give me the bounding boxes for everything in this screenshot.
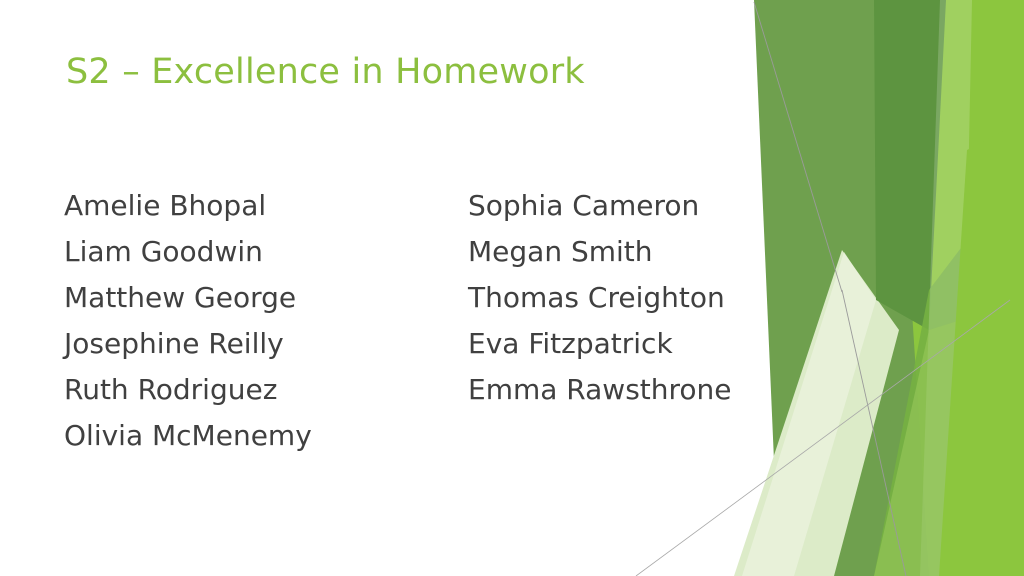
decor-shape-dark-wedge <box>874 0 946 330</box>
list-item: Megan Smith <box>468 229 764 275</box>
decoration-svg <box>724 0 1024 576</box>
slide: S2 – Excellence in Homework Amelie Bhopa… <box>0 0 1024 576</box>
page-title: S2 – Excellence in Homework <box>66 52 585 92</box>
list-item: Olivia McMenemy <box>64 413 468 459</box>
angular-green-ribbons-decoration <box>724 0 1024 576</box>
list-item: Thomas Creighton <box>468 275 764 321</box>
list-item: Matthew George <box>64 275 468 321</box>
decor-shape-translucent-overlay <box>874 300 1024 576</box>
name-column-left: Amelie Bhopal Liam Goodwin Matthew Georg… <box>64 183 468 459</box>
list-item: Emma Rawsthrone <box>468 367 764 413</box>
list-item: Josephine Reilly <box>64 321 468 367</box>
decor-shape-bright-base <box>844 0 1024 576</box>
list-item: Eva Fitzpatrick <box>468 321 764 367</box>
decor-shape-pale-cross-ribbon <box>920 0 972 576</box>
name-column-right: Sophia Cameron Megan Smith Thomas Creigh… <box>468 183 764 459</box>
list-item: Liam Goodwin <box>64 229 468 275</box>
decor-shape-light-ribbon <box>874 240 967 576</box>
list-item: Sophia Cameron <box>468 183 764 229</box>
decor-shape-medium-ribbon <box>754 0 929 576</box>
name-columns: Amelie Bhopal Liam Goodwin Matthew Georg… <box>64 183 764 459</box>
list-item: Amelie Bhopal <box>64 183 468 229</box>
decor-shape-bright-front <box>939 120 1024 576</box>
list-item: Ruth Rodriguez <box>64 367 468 413</box>
decor-hairline-lower <box>842 290 906 576</box>
decor-hairline-upper <box>754 2 842 292</box>
